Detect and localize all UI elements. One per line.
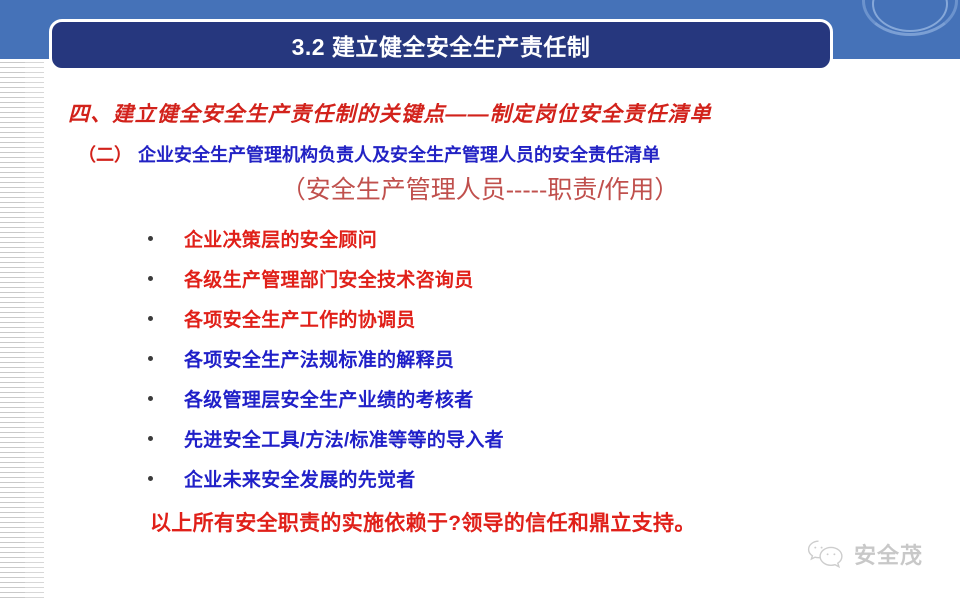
bullet-dot-icon (148, 436, 153, 441)
list-item: 各项安全生产工作的协调员 (148, 298, 848, 338)
list-item-label: 各级管理层安全生产业绩的考核者 (184, 385, 474, 412)
presentation-slide: 3.2 建立健全安全生产责任制 四、建立健全安全生产责任制的关键点——制定岗位安… (0, 0, 960, 601)
bullet-dot-icon (148, 476, 153, 481)
bullet-dot-icon (148, 316, 153, 321)
list-item: 先进安全工具/方法/标准等等的导入者 (148, 418, 848, 458)
slide-title: 3.2 建立健全安全生产责任制 (292, 28, 591, 62)
list-item: 企业决策层的安全顾问 (148, 218, 848, 258)
wechat-logo-icon (806, 538, 846, 570)
bullet-dot-icon (148, 236, 153, 241)
list-item-label: 企业未来安全发展的先觉者 (184, 465, 416, 492)
left-stripe-decoration-dense (0, 59, 25, 601)
list-item: 企业未来安全发展的先觉者 (148, 458, 848, 498)
bullet-dot-icon (148, 276, 153, 281)
section-heading-red: 四、建立健全安全生产责任制的关键点——制定岗位安全责任清单 (68, 98, 868, 128)
bullet-list: 企业决策层的安全顾问 各级生产管理部门安全技术咨询员 各项安全生产工作的协调员 … (148, 218, 848, 498)
watermark: 安全茂 (806, 538, 923, 570)
list-item: 各级管理层安全生产业绩的考核者 (148, 378, 848, 418)
slide-title-bar: 3.2 建立健全安全生产责任制 (49, 19, 833, 71)
closing-statement: 以上所有安全职责的实施依赖于?领导的信任和鼎立支持。 (150, 507, 696, 537)
subsection-text: 企业安全生产管理机构负责人及安全生产管理人员的安全责任清单 (138, 145, 660, 165)
watermark-label: 安全茂 (854, 538, 923, 570)
list-item-label: 各项安全生产法规标准的解释员 (184, 345, 454, 372)
bullet-dot-icon (148, 396, 153, 401)
list-item: 各项安全生产法规标准的解释员 (148, 338, 848, 378)
subsection-marker: （二） (78, 145, 132, 165)
parenthetical-line: （安全生产管理人员-----职责/作用） (0, 170, 960, 206)
list-item-label: 企业决策层的安全顾问 (184, 225, 377, 252)
list-item: 各级生产管理部门安全技术咨询员 (148, 258, 848, 298)
list-item-label: 各级生产管理部门安全技术咨询员 (184, 265, 474, 292)
bullet-dot-icon (148, 356, 153, 361)
list-item-label: 各项安全生产工作的协调员 (184, 305, 416, 332)
subsection-heading: （二）企业安全生产管理机构负责人及安全生产管理人员的安全责任清单 (78, 141, 660, 167)
list-item-label: 先进安全工具/方法/标准等等的导入者 (184, 425, 504, 452)
